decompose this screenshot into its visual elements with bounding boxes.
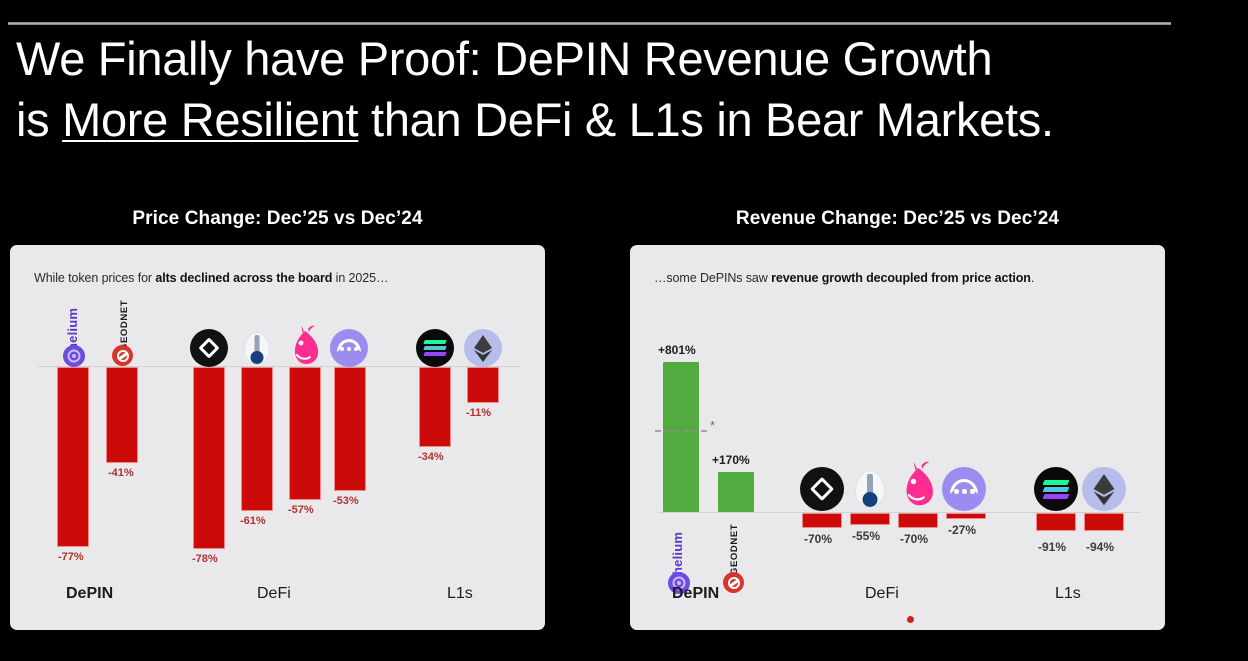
bar-label-solana: -34% <box>418 451 444 463</box>
header-divider <box>8 22 1171 25</box>
bar-label-solana-rev: -91% <box>1038 540 1066 554</box>
headline-emphasis: More Resilient <box>62 93 358 146</box>
bar-geodnet <box>106 367 138 463</box>
right-plot-area: +801% * helium +170% GEODNET DePIN <box>630 245 1165 630</box>
bar-aave-rev <box>946 513 986 519</box>
bar-label-lido: -61% <box>240 515 266 527</box>
left-group-label-defi: DeFi <box>257 585 291 603</box>
axis-break-asterisk: * <box>710 419 715 432</box>
headline-line-1: We Finally have Proof: DePIN Revenue Gro… <box>16 28 1236 89</box>
right-group-label-defi: DeFi <box>865 585 899 603</box>
bar-label-aave: -53% <box>333 495 359 507</box>
bar-label-helium-rev: +801% <box>658 343 696 357</box>
ethena-icon-right <box>800 467 844 511</box>
slide-root: We Finally have Proof: DePIN Revenue Gro… <box>0 0 1248 661</box>
right-chart-panel: …some DePINs saw revenue growth decouple… <box>630 245 1165 630</box>
solana-icon-right <box>1034 467 1078 511</box>
defi-marker-dot <box>907 616 914 623</box>
aave-icon <box>330 329 368 367</box>
ethereum-icon <box>464 329 502 367</box>
uniswap-icon-right <box>894 461 942 511</box>
uniswap-icon <box>284 325 326 369</box>
left-plot-area: helium -77% GEODNET -41% DePIN -78% <box>10 245 545 630</box>
bar-uniswap-rev <box>898 513 938 528</box>
right-group-label-depin: DePIN <box>672 585 719 603</box>
helium-icon <box>63 345 85 367</box>
bar-label-uniswap-rev: -70% <box>900 532 928 546</box>
bar-label-geodnet-rev: +170% <box>712 453 750 467</box>
bar-label-uniswap: -57% <box>288 504 314 516</box>
bar-label-lido-rev: -55% <box>852 529 880 543</box>
aave-icon-right <box>942 467 986 511</box>
bar-solana-rev <box>1036 513 1076 531</box>
right-token-label-helium: helium <box>670 517 685 575</box>
left-chart-title: Price Change: Dec’25 vs Dec’24 <box>10 208 545 230</box>
headline-line-2-prefix: is <box>16 93 62 146</box>
page-title: We Finally have Proof: DePIN Revenue Gro… <box>16 28 1236 150</box>
right-group-label-l1s: L1s <box>1055 585 1081 603</box>
bar-label-ethereum: -11% <box>466 407 491 419</box>
right-token-label-geodnet: GEODNET <box>729 517 740 575</box>
headline-line-2: is More Resilient than DeFi & L1s in Bea… <box>16 89 1236 150</box>
left-group-label-l1s: L1s <box>447 585 473 603</box>
bar-label-ethena: -78% <box>192 553 218 565</box>
bar-aave <box>334 367 366 491</box>
lido-icon <box>238 329 276 367</box>
geodnet-icon-right <box>723 572 744 593</box>
bar-label-aave-rev: -27% <box>948 523 976 537</box>
bar-helium <box>57 367 89 547</box>
bar-label-helium: -77% <box>58 551 84 563</box>
bar-ethereum <box>467 367 499 403</box>
solana-icon <box>416 329 454 367</box>
bar-ethena <box>193 367 225 549</box>
left-group-label-depin: DePIN <box>66 585 113 603</box>
bar-ethena-rev <box>802 513 842 528</box>
lido-icon-right <box>848 467 892 511</box>
axis-break-dash <box>655 430 707 432</box>
left-chart-panel: While token prices for alts declined acr… <box>10 245 545 630</box>
ethena-icon <box>190 329 228 367</box>
headline-line-2-suffix: than DeFi & L1s in Bear Markets. <box>358 93 1053 146</box>
bar-lido <box>241 367 273 511</box>
bar-ethereum-rev <box>1084 513 1124 531</box>
bar-label-geodnet: -41% <box>108 467 134 479</box>
bar-label-ethereum-rev: -94% <box>1086 540 1114 554</box>
bar-label-ethena-rev: -70% <box>804 532 832 546</box>
bar-lido-rev <box>850 513 890 525</box>
bar-helium-rev <box>663 362 699 512</box>
left-token-label-helium: helium <box>65 293 80 351</box>
bar-solana <box>419 367 451 447</box>
left-token-label-geodnet: GEODNET <box>119 293 130 351</box>
bar-geodnet-rev <box>718 472 754 512</box>
ethereum-icon-right <box>1082 467 1126 511</box>
geodnet-icon <box>112 345 133 366</box>
bar-uniswap <box>289 367 321 500</box>
right-chart-title: Revenue Change: Dec’25 vs Dec’24 <box>630 208 1165 230</box>
